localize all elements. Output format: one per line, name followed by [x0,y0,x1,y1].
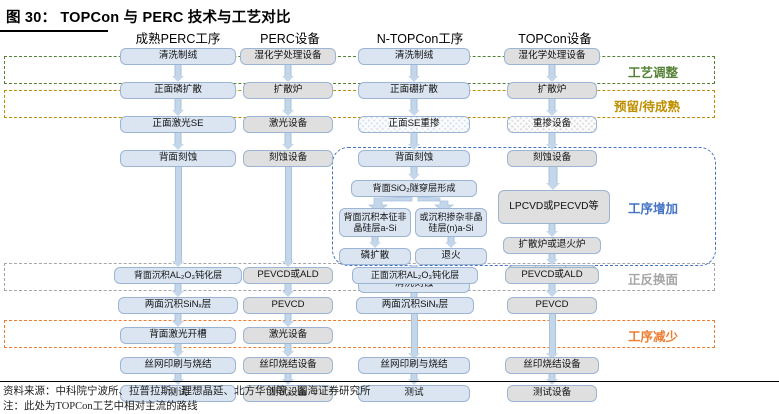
arrow-c1-4 [172,284,184,297]
box-c4-0[interactable]: 湿化学处理设备 [504,48,600,65]
arrow-c1-6 [172,344,184,357]
arrow-c4-5 [546,254,558,265]
region-label-process-added: 工序增加 [628,198,678,217]
connector-c1-long [175,167,182,264]
box-c3-6[interactable]: 或沉积掺杂非晶硅层(n)a-Si [415,208,487,237]
box-c4-10[interactable]: 测试设备 [507,385,597,402]
box-c4-4[interactable]: LPCVD或PECVD等 [498,190,610,224]
box-c2-6[interactable]: 激光设备 [243,327,333,344]
box-c4-pevcd[interactable]: PEVCD [507,297,597,314]
box-c3-4[interactable]: 背面SiO₂隧穿层形成 [351,180,477,197]
box-c2-5[interactable]: PEVCD [243,297,333,314]
box-c2-1[interactable]: 扩散炉 [243,82,333,99]
band-label-flip-side: 正反换面 [628,269,678,288]
box-c3-13[interactable]: 丝网印刷与烧结 [358,357,470,374]
box-c1-4[interactable]: 背面沉积AL₂O₃钝化层 [114,267,242,284]
arrow-c1-3 [172,258,184,267]
connector-c2-long [285,167,292,264]
arrow-c3-6 [445,237,457,248]
box-c3-0[interactable]: 清洗制绒 [358,48,470,65]
arrow-c1-0 [172,65,184,82]
arrow-c2-4 [282,284,294,297]
arrow-c1-1 [172,99,184,116]
box-c4-9[interactable]: 丝印烧结设备 [505,357,599,374]
footer-divider [0,381,779,382]
diagram-canvas: 工艺调整 预留/待成熟 正反换面 工序减少 工序增加 成熟PERC工序 PERC… [0,26,779,380]
box-c4-2[interactable]: 重掺设备 [507,116,597,133]
box-c3-1[interactable]: 正面硼扩散 [358,82,470,99]
figure-title: 图 30： TOPCon 与 PERC 技术与工艺对比 [6,6,291,27]
arrow-c3-5 [369,237,381,248]
box-c4-1[interactable]: 扩散炉 [507,82,597,99]
band-process-reduce [4,320,715,348]
box-c4-5[interactable]: 扩散炉或退火炉 [503,237,601,254]
arrow-c3-1 [408,99,420,116]
arrow-c1-5 [172,314,184,327]
arrow-c3-2 [408,133,420,150]
box-c1-0[interactable]: 清洗制绒 [120,48,236,65]
box-c1-7[interactable]: 丝网印刷与烧结 [120,357,236,374]
box-c3-7[interactable]: 磷扩散 [339,248,411,265]
box-c4-3[interactable]: 刻蚀设备 [507,150,597,167]
box-c1-1[interactable]: 正面磷扩散 [120,82,236,99]
box-c2-2[interactable]: 激光设备 [243,116,333,133]
box-c3-2[interactable]: 正面SE重掺 [358,116,470,133]
arrow-c4-2 [546,133,558,150]
column-header-perc-process: 成熟PERC工序 [120,28,236,47]
column-header-ntopcon-process: N-TOPCon工序 [355,28,485,47]
band-label-process-reduce: 工序减少 [628,326,678,345]
box-c1-5[interactable]: 两面沉积SiNₓ层 [118,297,238,314]
arrow-c2-6 [282,344,294,357]
box-c4-pevcdald[interactable]: PEVCD或ALD [505,267,599,284]
column-header-topcon-equipment: TOPCon设备 [497,28,613,47]
arrow-c4-3 [546,167,560,190]
footer-source: 资料来源：中科院宁波所、拉普拉斯、理想晶延、北方华创等，国海证券研究所 [3,383,371,398]
column-header-perc-equipment: PERC设备 [240,28,340,47]
box-c3-3[interactable]: 背面刻蚀 [358,150,470,167]
box-c1-2[interactable]: 正面激光SE [120,116,236,133]
arrow-c4-1 [546,99,558,116]
arrow-c4-9 [546,374,558,385]
box-c3-14[interactable]: 测试 [358,385,470,402]
box-c3-11[interactable]: 正面沉积AL₂O₃钝化层 [352,267,478,284]
arrow-c4-0 [546,65,558,82]
arrow-c1-2 [172,133,184,150]
arrow-c4-7 [546,284,558,297]
footer-note: 注：此处为TOPCon工艺中相对主流的路线 [3,398,198,413]
arrow-c2-0 [282,65,294,82]
box-c2-4[interactable]: PEVCD或ALD [243,267,333,284]
arrow-c2-5 [282,314,294,327]
box-c1-6[interactable]: 背面激光开槽 [120,327,236,344]
arrow-c3-13 [408,374,420,385]
arrow-c3-3 [408,167,420,180]
arrow-c2-3 [282,258,294,267]
arrow-c4-4 [546,224,558,237]
box-c2-7[interactable]: 丝印烧结设备 [243,357,333,374]
band-label-reserved-mature: 预留/待成熟 [614,96,680,115]
arrow-c2-1 [282,99,294,116]
box-c3-12[interactable]: 两面沉积SiNₓ层 [356,297,474,314]
box-c1-3[interactable]: 背面刻蚀 [120,150,236,167]
box-c2-3[interactable]: 刻蚀设备 [243,150,333,167]
box-c3-8[interactable]: 退火 [415,248,487,265]
box-c3-5[interactable]: 背面沉积本征非晶硅层a-Si [339,208,411,237]
arrow-c2-2 [282,133,294,150]
box-c2-0[interactable]: 湿化学处理设备 [240,48,336,65]
band-label-process-adjust: 工艺调整 [628,62,678,81]
arrow-c3-0 [408,65,420,82]
